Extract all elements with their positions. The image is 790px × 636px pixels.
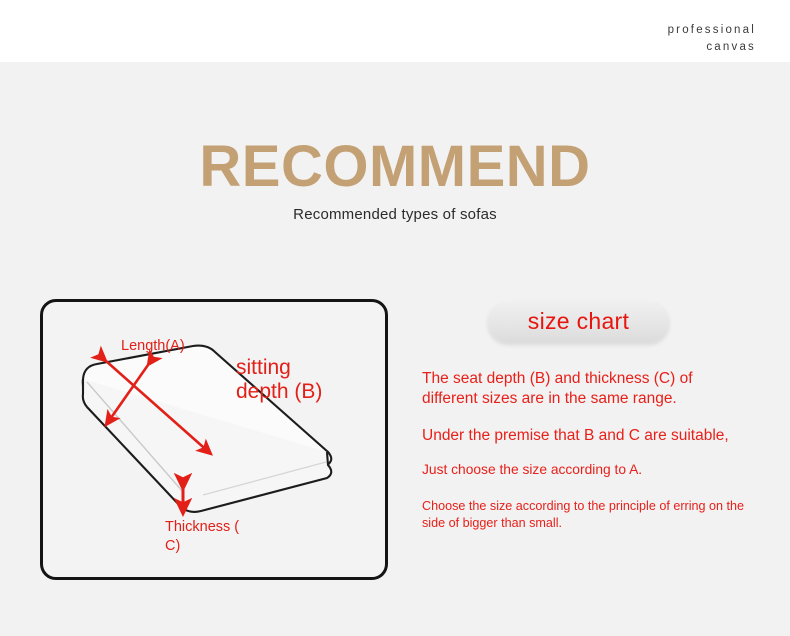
depth-label-line2: depth (B)	[236, 380, 322, 403]
page-root: professional canvas RECOMMEND Recommende…	[0, 0, 790, 636]
size-note-1: The seat depth (B) and thickness (C) of …	[422, 369, 752, 409]
size-note-2: Under the premise that B and C are suita…	[422, 426, 752, 446]
size-notes-list: The seat depth (B) and thickness (C) of …	[422, 369, 752, 531]
brand-logo: professional canvas	[668, 22, 756, 55]
page-title: RECOMMEND	[0, 138, 790, 196]
size-chart-label: size chart	[528, 308, 629, 335]
size-chart-badge: size chart	[488, 301, 669, 342]
header-band: professional canvas	[0, 0, 790, 62]
brand-line-2: canvas	[668, 39, 756, 56]
brand-line-1: professional	[668, 22, 756, 39]
page-subtitle: Recommended types of sofas	[0, 206, 790, 223]
size-note-3: Just choose the size according to A.	[422, 461, 752, 479]
size-note-4: Choose the size according to the princip…	[422, 498, 752, 531]
sofa-dimension-diagram: Length(A) sitting depth (B) Thickness ( …	[40, 299, 388, 580]
length-label: Length(A)	[121, 338, 185, 354]
thickness-label-line1: Thickness (	[165, 519, 239, 535]
depth-label-line1: sitting	[236, 356, 291, 379]
cushion-illustration: Length(A) sitting depth (B) Thickness ( …	[43, 302, 388, 580]
thickness-label-line2: C)	[165, 538, 180, 554]
